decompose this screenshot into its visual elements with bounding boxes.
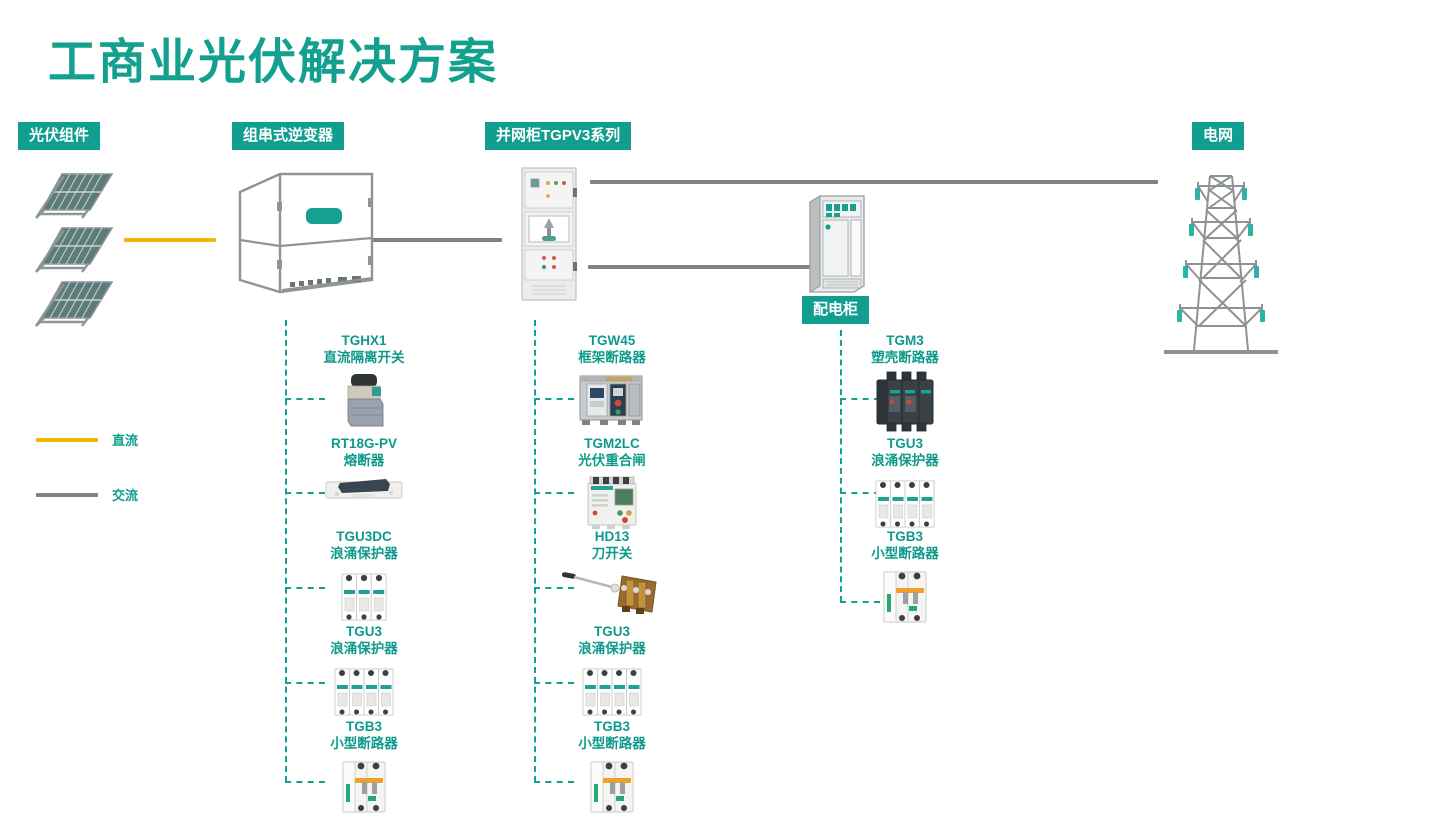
product-code: TGM2LC [512, 435, 712, 452]
product-desc: 光伏重合闸 [512, 452, 712, 469]
legend-item-dc: 直流 [36, 430, 138, 449]
legend-swatch-dc [36, 438, 98, 442]
product-code: RT18G-PV [264, 435, 464, 452]
distribution-cabinet-icon [806, 194, 870, 299]
pv-panel-3 [24, 274, 116, 335]
flow-line-grid-cabinet-to-distribution [588, 265, 810, 269]
product-code: TGU3 [805, 435, 1005, 452]
product-image-isolator [264, 370, 464, 430]
product-code: TGU3DC [264, 528, 464, 545]
product-image-mcb [805, 566, 1005, 628]
product-desc: 框架断路器 [512, 349, 712, 366]
flow-line-inverter-to-grid-cabinet [372, 238, 502, 242]
legend-label-dc: 直流 [112, 430, 138, 449]
product-code: TGM3 [805, 332, 1005, 349]
product-item: RT18G-PV 熔断器 [264, 435, 464, 503]
legend-label-ac: 交流 [112, 485, 138, 504]
flow-line-pv-to-inverter [124, 238, 216, 242]
product-item: TGM2LC 光伏重合闸 [512, 435, 712, 529]
product-image-spd4 [805, 473, 1005, 531]
product-code: TGW45 [512, 332, 712, 349]
product-item: TGB3 小型断路器 [512, 718, 712, 818]
product-desc: 直流隔离开关 [264, 349, 464, 366]
stage-badge-pv-modules: 光伏组件 [18, 122, 100, 150]
pv-panel-2 [24, 220, 116, 281]
product-image-acb [512, 370, 712, 426]
product-item: TGU3 浪涌保护器 [805, 435, 1005, 531]
product-desc: 塑壳断路器 [805, 349, 1005, 366]
product-code: TGU3 [264, 623, 464, 640]
pv-panel-1 [24, 166, 116, 227]
legend: 直流 交流 [36, 430, 138, 504]
product-code: TGB3 [805, 528, 1005, 545]
product-desc: 小型断路器 [805, 545, 1005, 562]
page-title: 工商业光伏解决方案 [48, 22, 498, 92]
product-image-mcb [264, 756, 464, 818]
product-image-knife [512, 566, 712, 618]
product-code: HD13 [512, 528, 712, 545]
product-desc: 浪涌保护器 [264, 640, 464, 657]
product-image-spd4 [512, 661, 712, 719]
product-item: TGW45 框架断路器 [512, 332, 712, 426]
product-item: TGU3 浪涌保护器 [264, 623, 464, 719]
string-inverter-icon [232, 168, 376, 305]
stage-badge-string-inverter: 组串式逆变器 [232, 122, 344, 150]
product-desc: 小型断路器 [512, 735, 712, 752]
product-item: TGU3DC 浪涌保护器 [264, 528, 464, 624]
product-code: TGB3 [512, 718, 712, 735]
product-image-spd4 [264, 661, 464, 719]
product-code: TGHX1 [264, 332, 464, 349]
product-image-spd3 [264, 566, 464, 624]
product-item: TGB3 小型断路器 [264, 718, 464, 818]
flow-line-grid-cabinet-to-tower [590, 180, 1158, 184]
product-desc: 浪涌保护器 [512, 640, 712, 657]
product-image-fuse [264, 473, 464, 503]
stage-badge-grid-cabinet: 并网柜TGPV3系列 [485, 122, 631, 150]
product-desc: 小型断路器 [264, 735, 464, 752]
legend-item-ac: 交流 [36, 485, 138, 504]
stage-badge-power-grid: 电网 [1192, 122, 1244, 150]
power-grid-tower-icon [1158, 160, 1284, 365]
product-code: TGU3 [512, 623, 712, 640]
product-item: TGM3 塑壳断路器 [805, 332, 1005, 432]
stage-badge-distribution-cabinet: 配电柜 [802, 296, 869, 324]
product-image-recloser [512, 473, 712, 529]
product-code: TGB3 [264, 718, 464, 735]
product-item: TGHX1 直流隔离开关 [264, 332, 464, 430]
product-desc: 熔断器 [264, 452, 464, 469]
legend-swatch-ac [36, 493, 98, 497]
product-desc: 浪涌保护器 [264, 545, 464, 562]
product-desc: 刀开关 [512, 545, 712, 562]
grid-cabinet-icon [518, 166, 580, 307]
product-image-mcb [512, 756, 712, 818]
product-item: TGU3 浪涌保护器 [512, 623, 712, 719]
product-desc: 浪涌保护器 [805, 452, 1005, 469]
product-image-mccb [805, 370, 1005, 432]
product-item: HD13 刀开关 [512, 528, 712, 618]
product-item: TGB3 小型断路器 [805, 528, 1005, 628]
